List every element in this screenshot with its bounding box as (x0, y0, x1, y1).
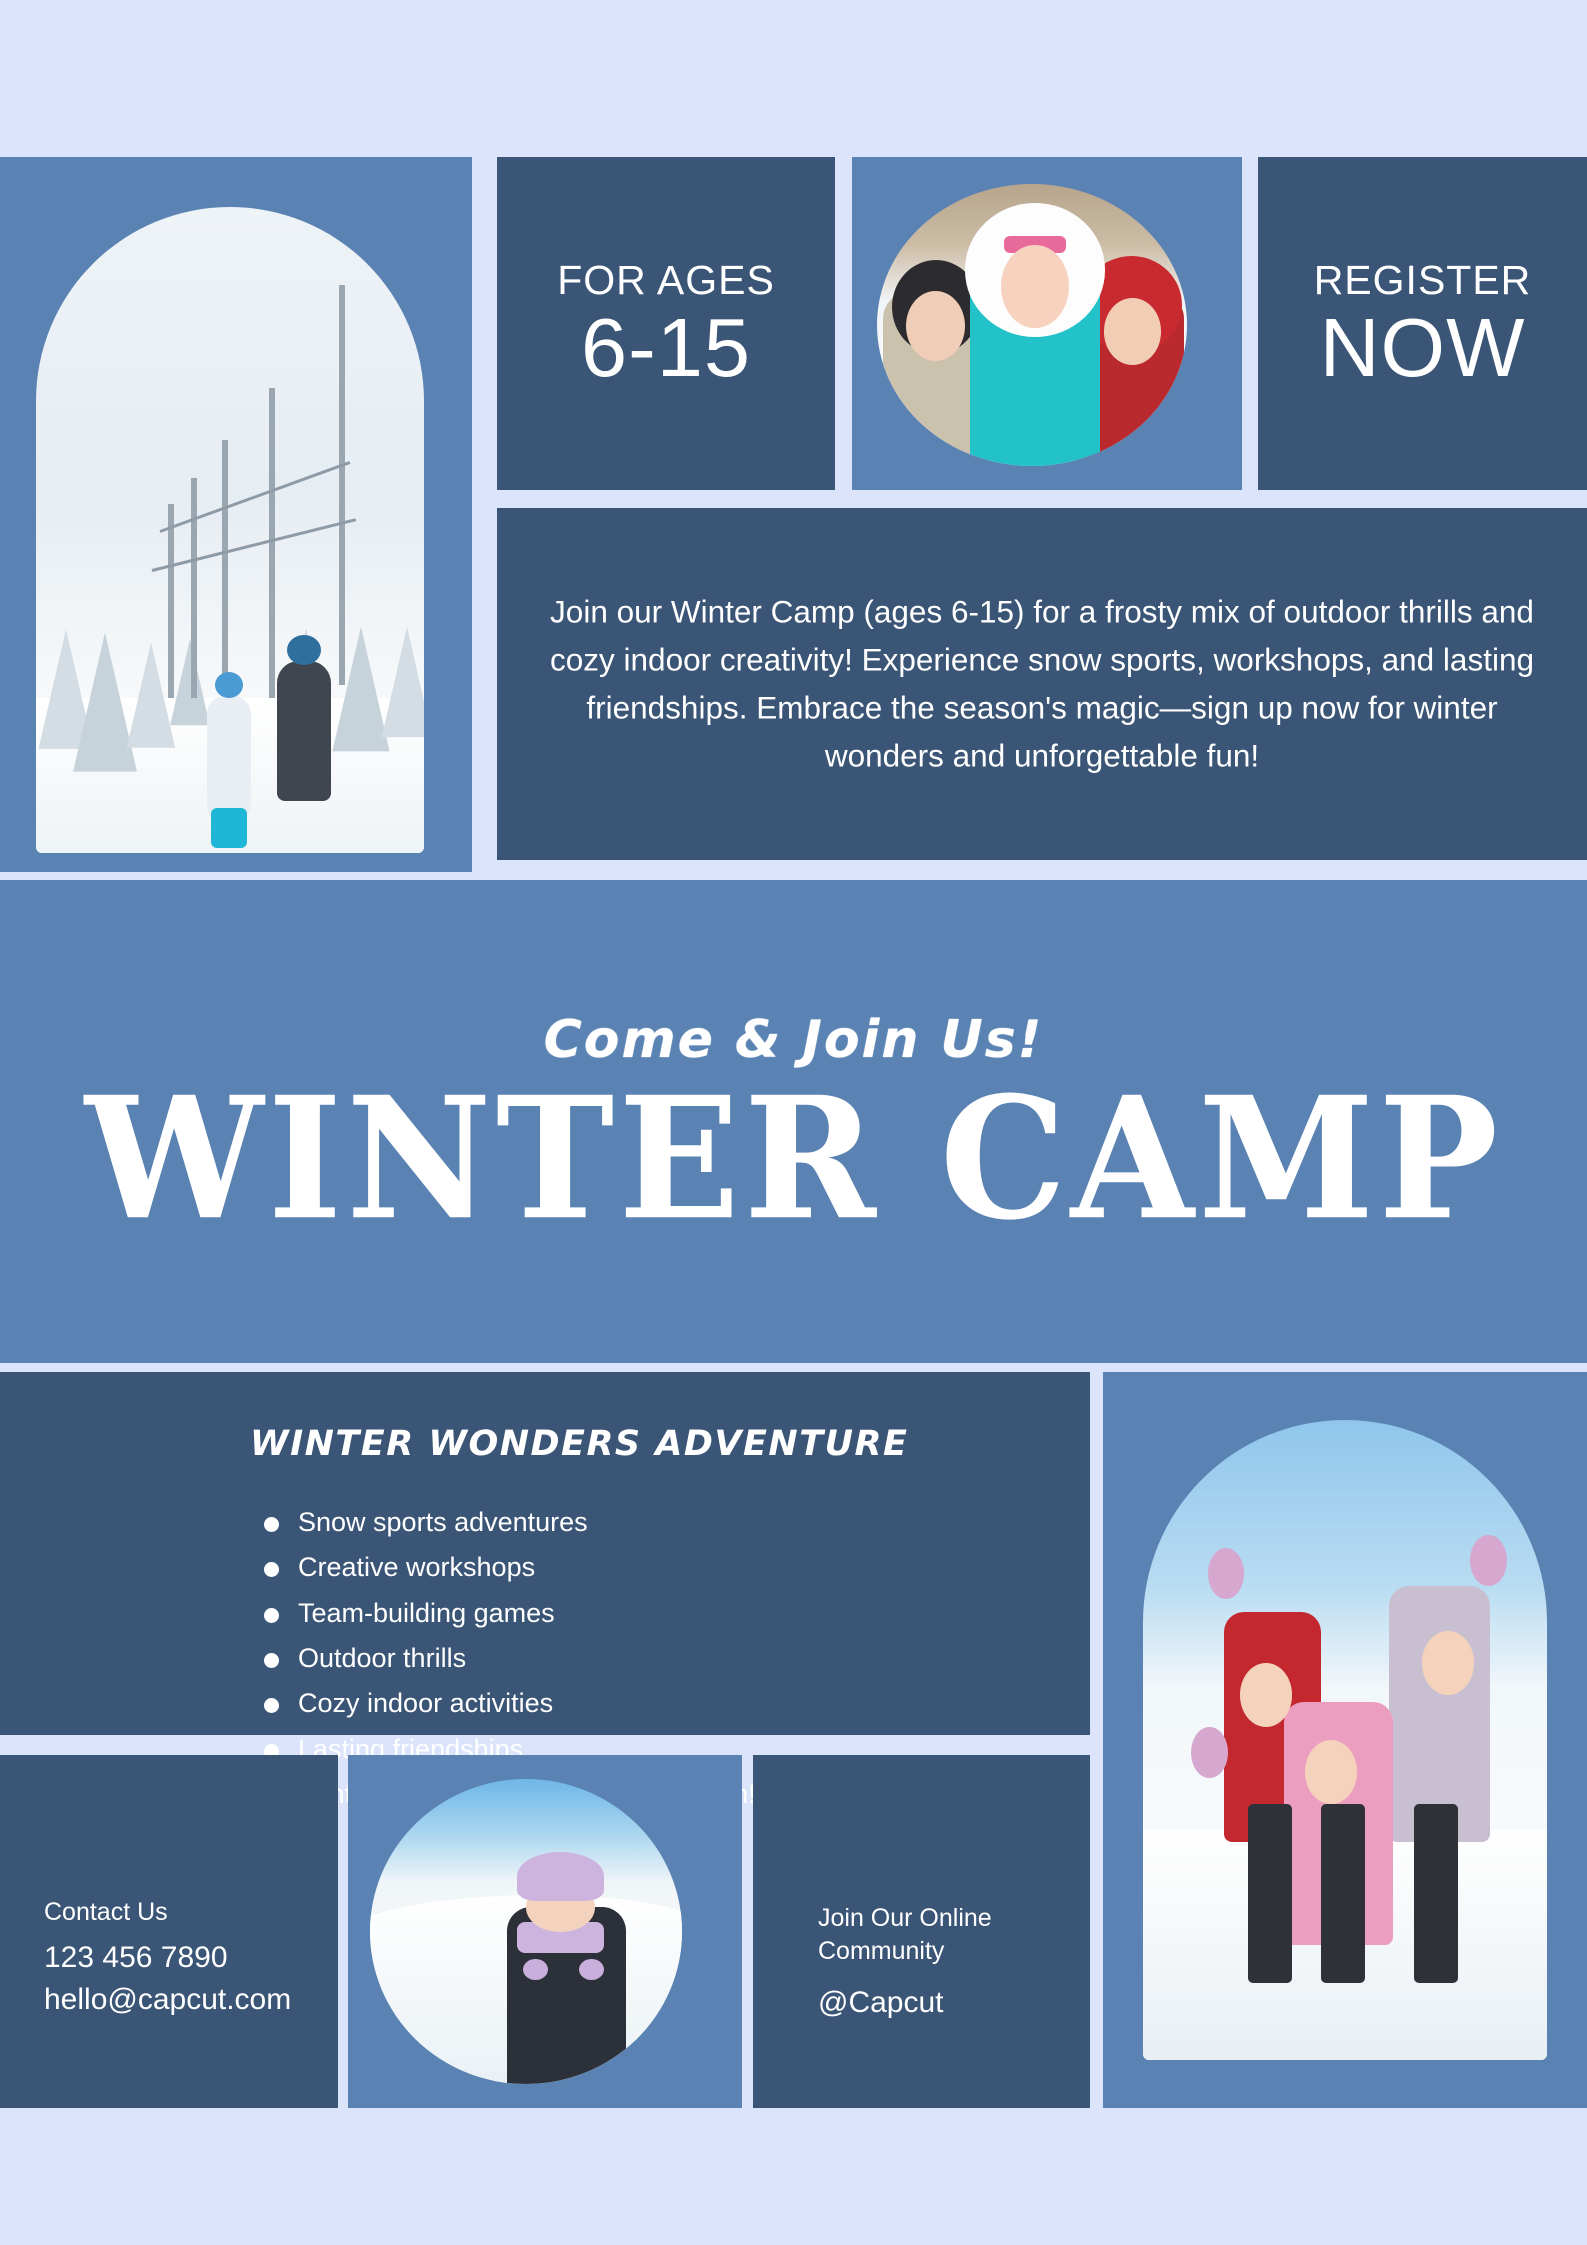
bullet-icon (264, 1608, 279, 1623)
ages-panel: FOR AGES 6-15 (497, 157, 835, 490)
three-kids-winter-portrait-photo (877, 184, 1187, 466)
contact-heading: Contact Us (44, 1894, 291, 1932)
list-item-label: Team-building games (298, 1598, 555, 1628)
kids-jumping-snow-photo (1143, 1420, 1547, 2060)
contact-block: Contact Us 123 456 7890 hello@capcut.com (44, 1894, 291, 2020)
list-item-label: Creative workshops (298, 1552, 535, 1582)
ages-value: 6-15 (497, 303, 835, 390)
list-item-label: Cozy indoor activities (298, 1688, 553, 1718)
social-handle[interactable]: @Capcut (818, 1986, 992, 2020)
mid-photo-panel (348, 1755, 742, 2108)
social-heading-line1: Join Our Online (818, 1902, 992, 1936)
list-item: Cozy indoor activities (258, 1681, 756, 1726)
mid-photo-circle (370, 1779, 682, 2084)
social-heading-line2: Community (818, 1935, 992, 1969)
features-panel: WINTER WONDERS ADVENTURE Snow sports adv… (0, 1372, 1090, 1735)
register-panel[interactable]: REGISTER NOW (1258, 157, 1587, 490)
ski-lift-snow-photo (36, 207, 424, 853)
contact-phone[interactable]: 123 456 7890 (44, 1937, 291, 1978)
social-panel: Join Our Online Community @Capcut (753, 1755, 1090, 2108)
list-item: Outdoor thrills (258, 1636, 756, 1681)
hero-photo-panel (0, 157, 472, 872)
list-item: Snow sports adventures (258, 1500, 756, 1545)
title-band-panel: Come & Join Us! WINTER CAMP (0, 880, 1587, 1363)
kids-photo-circle (877, 184, 1187, 466)
features-heading: WINTER WONDERS ADVENTURE (250, 1424, 908, 1464)
kids-photo-panel (852, 157, 1242, 490)
bullet-icon (264, 1653, 279, 1668)
side-photo-arch (1143, 1420, 1547, 2060)
poster-canvas: FOR AGES 6-15 REGISTER NOW Join our Wint… (0, 0, 1587, 2245)
list-item: Team-building games (258, 1591, 756, 1636)
ages-text-stack: FOR AGES 6-15 (497, 256, 835, 390)
register-text-stack: REGISTER NOW (1258, 256, 1587, 390)
side-photo-panel (1103, 1372, 1587, 2108)
intro-panel: Join our Winter Camp (ages 6-15) for a f… (497, 508, 1587, 860)
hero-photo-arch (36, 207, 424, 853)
contact-email[interactable]: hello@capcut.com (44, 1979, 291, 2020)
list-item: Creative workshops (258, 1545, 756, 1590)
intro-paragraph: Join our Winter Camp (ages 6-15) for a f… (547, 588, 1537, 780)
poster-title: WINTER CAMP (85, 1075, 1502, 1243)
register-label: REGISTER (1258, 256, 1587, 303)
register-now-value: NOW (1258, 303, 1587, 390)
for-ages-label: FOR AGES (497, 256, 835, 303)
girl-pink-hat-snow-photo (370, 1779, 682, 2084)
bullet-icon (264, 1562, 279, 1577)
list-item-label: Outdoor thrills (298, 1643, 466, 1673)
bullet-icon (264, 1517, 279, 1532)
bullet-icon (264, 1698, 279, 1713)
social-block: Join Our Online Community @Capcut (818, 1902, 992, 2021)
list-item-label: Snow sports adventures (298, 1507, 588, 1537)
contact-panel: Contact Us 123 456 7890 hello@capcut.com (0, 1755, 338, 2108)
